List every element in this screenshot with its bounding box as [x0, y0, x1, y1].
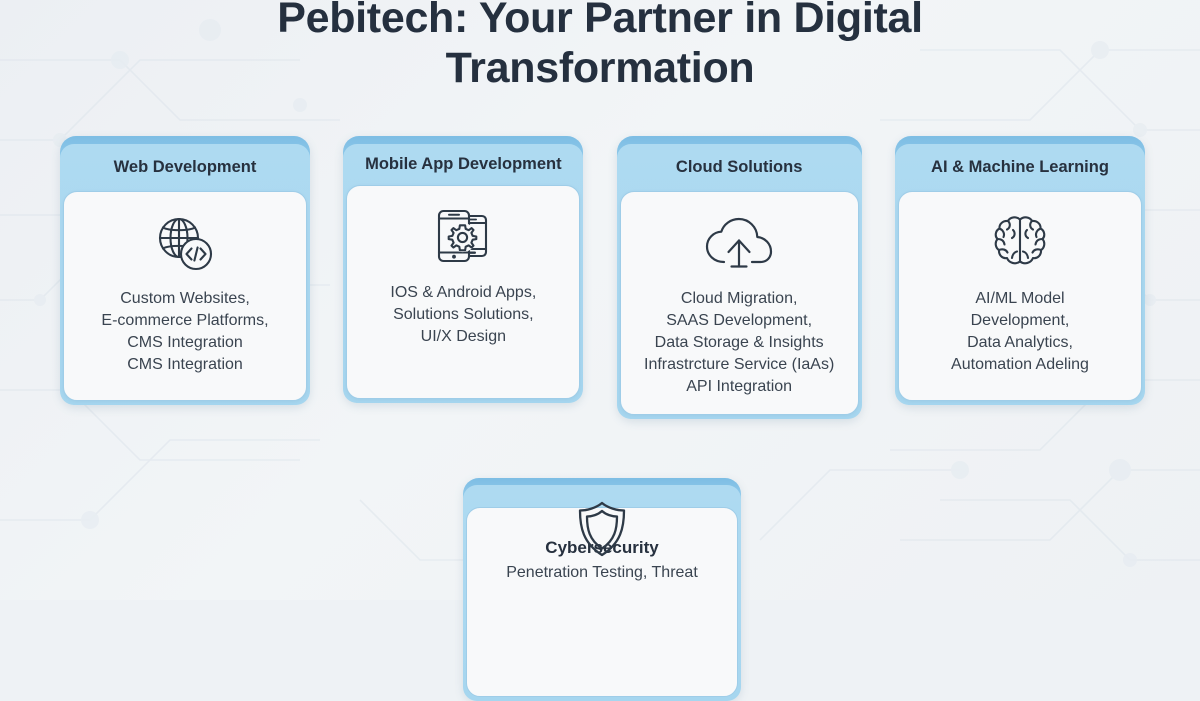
shield-icon [463, 500, 741, 558]
service-card-title: Mobile App Development [343, 144, 583, 185]
card-header-panel: Cloud Solutions Cloud Migration, SAAS De… [617, 144, 862, 419]
service-card-title: Web Development [60, 144, 310, 191]
service-card-description: Custom Websites, E-commerce Platforms, C… [72, 288, 298, 376]
service-card-body: Cloud Migration, SAAS Development, Data … [620, 191, 859, 415]
service-card-ai-machine-learning[interactable]: AI & Machine Learning [895, 136, 1145, 405]
service-card-web-development[interactable]: Web Development [60, 136, 310, 405]
service-card-cloud-solutions[interactable]: Cloud Solutions Cloud Migration, SAAS De… [617, 136, 862, 419]
service-card-mobile-app-development[interactable]: Mobile App Development [343, 136, 583, 403]
service-card-body: IOS & Android Apps, Solutions Solutions,… [346, 185, 580, 399]
card-header-panel: AI & Machine Learning [895, 144, 1145, 405]
service-card-description: Cloud Migration, SAAS Development, Data … [629, 288, 850, 398]
brain-icon [907, 206, 1133, 282]
service-card-title: AI & Machine Learning [895, 144, 1145, 191]
card-header-panel: Web Development [60, 144, 310, 405]
mobile-gear-icon [355, 200, 571, 276]
service-card-cybersecurity[interactable]: Cybersecurity Penetration Testing, Threa… [463, 478, 741, 701]
service-card-title: Cloud Solutions [617, 144, 862, 191]
cloud-upload-icon [629, 206, 850, 282]
service-card-description: AI/ML Model Development, Data Analytics,… [907, 288, 1133, 376]
globe-code-icon [72, 206, 298, 282]
card-header-panel: Mobile App Development [343, 144, 583, 403]
service-cards-row: Web Development [60, 136, 1145, 419]
service-card-description: Penetration Testing, Threat [477, 562, 727, 584]
page-title: Pebitech: Your Partner in Digital Transf… [0, 0, 1200, 93]
service-card-body: AI/ML Model Development, Data Analytics,… [898, 191, 1142, 401]
service-card-description: IOS & Android Apps, Solutions Solutions,… [355, 282, 571, 348]
service-card-body: Custom Websites, E-commerce Platforms, C… [63, 191, 307, 401]
